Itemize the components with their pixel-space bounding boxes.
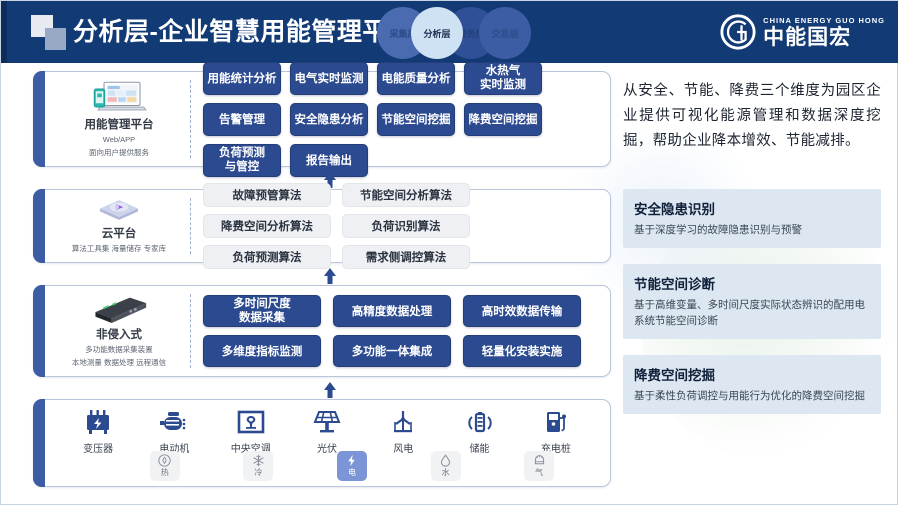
algorithm-button-load-identification[interactable]: 负荷识别算法 [342,214,470,238]
feature-card-safety: 安全隐患识别 基于深度学习的故障隐患识别与预警 [623,189,881,248]
panel-device-capabilities: 多时间尺度 数据采集 高精度数据处理 高时效数据传输 多维度指标监测 多功能一体… [191,294,600,368]
media-type-gas[interactable]: 气 [524,451,554,481]
button-line-2: 数据采集 [233,311,291,325]
company-brand: CHINA ENERGY GUO HONG 中能国宏 [719,12,885,52]
function-button-load-forecast-control[interactable]: 负荷预测 与管控 [203,144,281,177]
media-type-heat[interactable]: 热 [150,451,180,481]
feature-card-desc: 基于柔性负荷调控与用能行为优化的降费空间挖掘 [634,388,870,404]
page-title: 分析层-企业智慧用能管理平台 [73,13,413,51]
solar-panel-icon [312,408,342,438]
up-arrow-icon-3 [322,382,338,398]
energy-media-row: 热 冷 电 [118,451,586,481]
panel-edge [33,285,45,377]
header-left-accent [1,1,7,63]
central-ac-icon [236,408,266,438]
laptop-dashboard-icon [83,80,155,113]
media-label: 热 [161,467,169,478]
algorithm-button-demand-side-control[interactable]: 需求侧调控算法 [342,245,470,269]
media-type-water[interactable]: 水 [431,451,461,481]
capability-button-lightweight-installation[interactable]: 轻量化安装实施 [463,335,581,367]
algorithm-button-fault-prediction[interactable]: 故障预管算法 [203,183,331,207]
water-icon [439,454,452,467]
panel-edge [33,189,45,263]
equipment-item-ev-charger[interactable]: 充电桩 [523,408,589,455]
architecture-stack: 用能管理平台 Web/APP 面向用户提供服务 用能统计分析 电气实时监测 电能… [33,71,611,487]
panel-equipment: 变压器 电动机 [33,399,611,487]
panel-sub-1: Web/APP [103,135,135,145]
slide-canvas: 分析层-企业智慧用能管理平台 采集层 服务层 交易层 分析层 [0,0,898,505]
button-line-2: 实时监测 [480,78,526,92]
intro-paragraph: 从安全、节能、降费三个维度为园区企业提供可视化能源管理和数据深度挖掘，帮助企业降… [623,79,881,154]
panel-caption: 用能管理平台 [85,116,154,132]
panel-sub-1: 算法工具集 海量储存 专家库 [72,244,166,254]
panel-sub-2: 面向用户提供服务 [89,148,149,158]
panel-platform-functions: 用能统计分析 电气实时监测 电能质量分析 水热气 实时监测 告警管理 安全隐患分… [191,80,600,158]
up-arrow-icon-2 [322,268,338,284]
data-collector-device-icon [85,294,153,323]
guohong-logo-icon [719,13,757,51]
feature-card-cost-reduction: 降费空间挖掘 基于柔性负荷调控与用能行为优化的降费空间挖掘 [623,355,881,414]
button-line-1: 负荷预测 [219,146,265,160]
page-header: 分析层-企业智慧用能管理平台 采集层 服务层 交易层 分析层 [1,1,898,63]
wind-turbine-icon [388,408,418,438]
feature-card-title: 安全隐患识别 [634,198,870,218]
equipment-item-wind[interactable]: 风电 [370,408,436,455]
equipment-item-central-ac[interactable]: 中央空调 [218,408,284,455]
panel-caption: 非侵入式 [96,326,142,342]
algorithm-button-energy-saving-analysis[interactable]: 节能空间分析算法 [342,183,470,207]
media-label: 冷 [254,467,262,478]
function-button-power-quality[interactable]: 电能质量分析 [377,62,455,95]
function-button-energy-saving-space[interactable]: 节能空间挖掘 [377,103,455,136]
capability-button-high-speed-transmission[interactable]: 高时效数据传输 [463,295,581,327]
function-button-usage-statistics[interactable]: 用能统计分析 [203,62,281,95]
battery-storage-icon [465,408,495,438]
right-description-column: 从安全、节能、降费三个维度为园区企业提供可视化能源管理和数据深度挖掘，帮助企业降… [623,79,881,414]
function-button-electrical-monitoring[interactable]: 电气实时监测 [290,62,368,95]
ev-charger-icon [541,408,571,438]
panel-sub-2: 本地测量 数据处理 远程通信 [72,358,166,368]
heat-icon [158,454,171,467]
layer-label: 分析层 [423,27,450,40]
panel-sub-1: 多功能数据采集装置 [85,345,153,355]
equipment-item-storage[interactable]: 储能 [447,408,513,455]
media-label: 水 [442,467,450,478]
panel-cloud: 云平台 算法工具集 海量储存 专家库 故障预管算法 节能空间分析算法 降费空间分… [33,189,611,263]
cold-icon [252,454,265,467]
panel-edge [33,71,45,167]
equipment-item-solar[interactable]: 光伏 [294,408,360,455]
capability-button-multi-dimension-monitoring[interactable]: 多维度指标监测 [203,335,321,367]
brand-chinese: 中能国宏 [763,27,885,49]
feature-card-desc: 基于深度学习的故障隐患识别与预警 [634,222,870,238]
capability-button-multi-timescale-collection[interactable]: 多时间尺度 数据采集 [203,295,321,327]
panel-platform-identity: 用能管理平台 Web/APP 面向用户提供服务 [54,80,191,158]
logo-square-dark [45,28,66,50]
button-line-1: 水热气 [480,64,526,78]
equipment-item-motor[interactable]: 电动机 [141,408,207,455]
panel-device: 非侵入式 多功能数据采集装置 本地测量 数据处理 远程通信 多时间尺度 数据采集… [33,285,611,377]
panel-cloud-algorithms: 故障预管算法 节能空间分析算法 降费空间分析算法 负荷识别算法 负荷预测算法 需… [191,198,600,254]
capability-button-multifunction-integration[interactable]: 多功能一体集成 [333,335,451,367]
media-label: 气 [535,467,543,478]
panel-caption: 云平台 [102,225,137,241]
feature-card-desc: 基于高维变量、多时间尺度实际状态辨识的配用电系统节能空间诊断 [634,297,870,329]
equipment-label: 变压器 [83,440,113,455]
brand-text: CHINA ENERGY GUO HONG 中能国宏 [763,16,885,49]
gas-icon [533,454,546,467]
panel-device-identity: 非侵入式 多功能数据采集装置 本地测量 数据处理 远程通信 [54,294,191,368]
feature-card-energy-saving: 节能空间诊断 基于高维变量、多时间尺度实际状态辨识的配用电系统节能空间诊断 [623,264,881,339]
function-button-alarm-management[interactable]: 告警管理 [203,103,281,136]
panel-cloud-identity: 云平台 算法工具集 海量储存 专家库 [54,198,191,254]
media-type-cold[interactable]: 冷 [243,451,273,481]
media-label: 电 [348,467,356,478]
motor-icon [159,408,189,438]
media-type-electricity-active[interactable]: 电 [337,451,367,481]
layer-ellipse-trade[interactable]: 交易层 [479,7,531,59]
brand-english: CHINA ENERGY GUO HONG [763,16,885,25]
panel-edge [33,399,45,487]
capability-button-high-precision-processing[interactable]: 高精度数据处理 [333,295,451,327]
transformer-icon [83,408,113,438]
feature-card-title: 节能空间诊断 [634,273,870,293]
cloud-platform-icon [89,198,149,222]
button-line-1: 多时间尺度 [233,297,291,311]
electricity-icon [345,454,358,467]
panel-platform: 用能管理平台 Web/APP 面向用户提供服务 用能统计分析 电气实时监测 电能… [33,71,611,167]
equipment-item-transformer[interactable]: 变压器 [65,408,131,455]
function-button-water-heat-gas-monitoring[interactable]: 水热气 实时监测 [464,62,542,95]
algorithm-button-cost-reduction-analysis[interactable]: 降费空间分析算法 [203,214,331,238]
function-button-safety-hazard-analysis[interactable]: 安全隐患分析 [290,103,368,136]
layer-label: 交易层 [491,27,518,40]
feature-card-title: 降费空间挖掘 [634,364,870,384]
algorithm-button-load-forecast[interactable]: 负荷预测算法 [203,245,331,269]
layer-ellipse-analysis-active[interactable]: 分析层 [411,7,463,59]
layer-ellipse-group: 采集层 服务层 交易层 分析层 [377,7,537,59]
button-line-2: 与管控 [219,160,265,174]
function-button-cost-reduction-space[interactable]: 降费空间挖掘 [464,103,542,136]
header-logo-mark [31,15,69,51]
